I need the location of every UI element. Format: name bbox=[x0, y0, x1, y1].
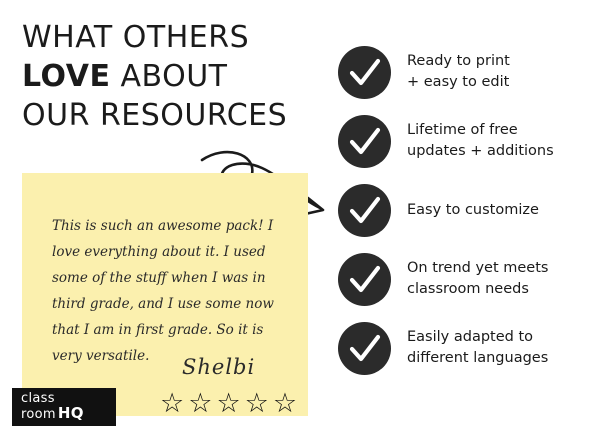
logo-line-2-text: room bbox=[21, 408, 56, 422]
feature-text: Ready to print + easy to edit bbox=[407, 51, 510, 93]
testimonial-signature: Shelbi bbox=[182, 355, 255, 379]
list-item: Lifetime of free updates + additions bbox=[338, 111, 594, 171]
list-item: Ready to print + easy to edit bbox=[338, 42, 594, 102]
feature-line-2: classroom needs bbox=[407, 279, 548, 300]
headline-line-2-rest: ABOUT bbox=[110, 59, 227, 94]
check-icon bbox=[338, 184, 391, 237]
feature-line-1: Easy to customize bbox=[407, 200, 539, 221]
page-title: WHAT OTHERS LOVE ABOUT OUR RESOURCES bbox=[22, 18, 342, 135]
feature-line-1: On trend yet meets bbox=[407, 258, 548, 279]
star-icon: ☆ bbox=[216, 390, 240, 417]
feature-list: Ready to print + easy to edit Lifetime o… bbox=[338, 42, 594, 387]
check-icon bbox=[338, 46, 391, 99]
headline-line-3: OUR RESOURCES bbox=[22, 96, 342, 135]
feature-line-2: updates + additions bbox=[407, 141, 554, 162]
feature-line-1: Easily adapted to bbox=[407, 327, 548, 348]
feature-line-2: + easy to edit bbox=[407, 72, 510, 93]
check-icon bbox=[338, 253, 391, 306]
feature-line-1: Ready to print bbox=[407, 51, 510, 72]
testimonial-quote: This is such an awesome pack! I love eve… bbox=[52, 213, 288, 369]
rating-stars: ☆ ☆ ☆ ☆ ☆ bbox=[160, 390, 297, 417]
list-item: Easily adapted to different languages bbox=[338, 318, 594, 378]
headline-line-1: WHAT OTHERS bbox=[22, 18, 342, 57]
feature-text: Easily adapted to different languages bbox=[407, 327, 548, 369]
headline-emphasis: LOVE bbox=[22, 59, 110, 94]
list-item: Easy to customize bbox=[338, 180, 594, 240]
star-icon: ☆ bbox=[160, 390, 184, 417]
list-item: On trend yet meets classroom needs bbox=[338, 249, 594, 309]
promo-page: WHAT OTHERS LOVE ABOUT OUR RESOURCES Thi… bbox=[0, 0, 600, 436]
feature-text: Lifetime of free updates + additions bbox=[407, 120, 554, 162]
logo-suffix: HQ bbox=[58, 406, 84, 420]
star-icon: ☆ bbox=[245, 390, 269, 417]
headline-line-2: LOVE ABOUT bbox=[22, 57, 342, 96]
feature-line-2: different languages bbox=[407, 348, 548, 369]
star-icon: ☆ bbox=[273, 390, 297, 417]
star-icon: ☆ bbox=[188, 390, 212, 417]
feature-text: Easy to customize bbox=[407, 200, 539, 221]
logo-line-2: room HQ bbox=[21, 406, 116, 422]
feature-line-1: Lifetime of free bbox=[407, 120, 554, 141]
check-icon bbox=[338, 115, 391, 168]
feature-text: On trend yet meets classroom needs bbox=[407, 258, 548, 300]
testimonial-card: This is such an awesome pack! I love eve… bbox=[22, 173, 308, 416]
brand-logo: class room HQ bbox=[12, 388, 116, 426]
check-icon bbox=[338, 322, 391, 375]
